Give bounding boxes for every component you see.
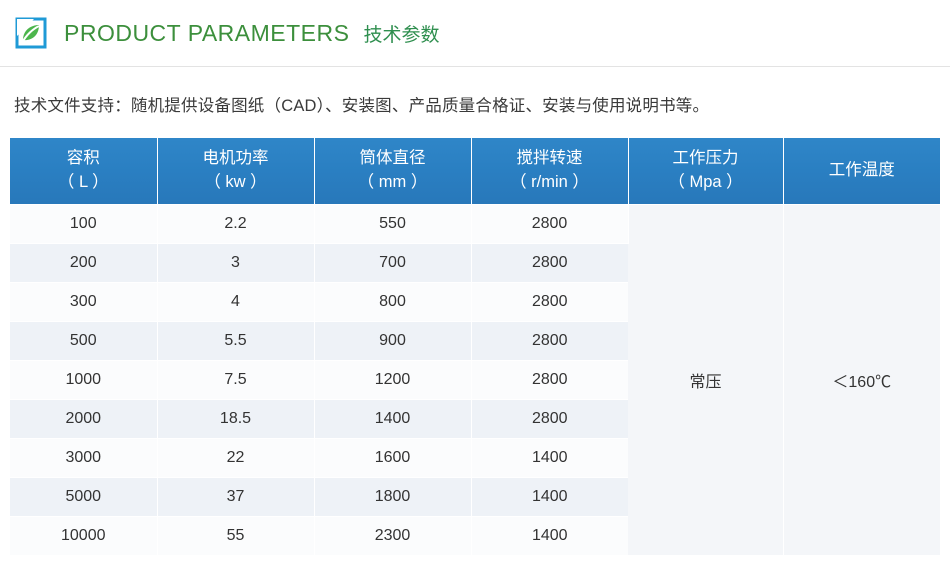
- column-header-speed: 搅拌转速 （ r/min ）: [471, 138, 628, 204]
- parameters-table: 容积 （ L ） 电机功率 （ kw ） 筒体直径 （ mm ） 搅拌转速 （ …: [10, 138, 940, 556]
- parameters-table-wrapper: 容积 （ L ） 电机功率 （ kw ） 筒体直径 （ mm ） 搅拌转速 （ …: [10, 138, 940, 556]
- page-title-cn: 技术参数: [363, 20, 439, 47]
- cell-speed: 2800: [471, 399, 628, 438]
- cell-power: 7.5: [157, 360, 314, 399]
- cell-diameter: 1600: [314, 438, 471, 477]
- table-row: 100 2.2 550 2800 常压 ＜160℃: [10, 204, 940, 243]
- page-title-en: PRODUCT PARAMETERS: [64, 20, 349, 47]
- cell-power: 4: [157, 282, 314, 321]
- cell-diameter: 550: [314, 204, 471, 243]
- cell-speed: 2800: [471, 282, 628, 321]
- cell-pressure-merged: 常压: [628, 204, 783, 555]
- column-header-power: 电机功率 （ kw ）: [157, 138, 314, 204]
- cell-volume: 3000: [10, 438, 157, 477]
- column-header-speed-line1: 搅拌转速: [474, 147, 626, 171]
- cell-volume: 10000: [10, 516, 157, 555]
- cell-power: 22: [157, 438, 314, 477]
- cell-volume: 200: [10, 243, 157, 282]
- column-header-diameter: 筒体直径 （ mm ）: [314, 138, 471, 204]
- cell-diameter: 1400: [314, 399, 471, 438]
- cell-volume: 300: [10, 282, 157, 321]
- cell-speed: 2800: [471, 204, 628, 243]
- column-header-temperature-line1: 工作温度: [786, 159, 939, 183]
- column-header-pressure: 工作压力 （ Mpa ）: [628, 138, 783, 204]
- column-header-diameter-line1: 筒体直径: [317, 147, 469, 171]
- cell-power: 3: [157, 243, 314, 282]
- cell-volume: 100: [10, 204, 157, 243]
- intro-text: 技术文件支持：随机提供设备图纸（CAD）、安装图、产品质量合格证、安装与使用说明…: [14, 92, 709, 116]
- product-parameters-page: PRODUCT PARAMETERS 技术参数 技术文件支持：随机提供设备图纸（…: [0, 0, 950, 565]
- column-header-volume: 容积 （ L ）: [10, 138, 157, 204]
- column-header-diameter-line2: （ mm ）: [317, 171, 469, 195]
- table-body: 100 2.2 550 2800 常压 ＜160℃ 200 3 700 2800…: [10, 204, 940, 555]
- cell-speed: 1400: [471, 438, 628, 477]
- table-header-row: 容积 （ L ） 电机功率 （ kw ） 筒体直径 （ mm ） 搅拌转速 （ …: [10, 138, 940, 204]
- column-header-speed-line2: （ r/min ）: [474, 171, 626, 195]
- column-header-power-line2: （ kw ）: [160, 171, 312, 195]
- cell-speed: 2800: [471, 360, 628, 399]
- cell-diameter: 2300: [314, 516, 471, 555]
- column-header-pressure-line1: 工作压力: [631, 147, 781, 171]
- column-header-volume-line2: （ L ）: [12, 171, 155, 195]
- cell-power: 2.2: [157, 204, 314, 243]
- cell-power: 5.5: [157, 321, 314, 360]
- cell-power: 55: [157, 516, 314, 555]
- page-header: PRODUCT PARAMETERS 技术参数: [0, 0, 950, 48]
- cell-temperature-merged: ＜160℃: [783, 204, 940, 555]
- cell-volume: 5000: [10, 477, 157, 516]
- cell-volume: 2000: [10, 399, 157, 438]
- cell-power: 18.5: [157, 399, 314, 438]
- cell-diameter: 900: [314, 321, 471, 360]
- cell-speed: 2800: [471, 321, 628, 360]
- cell-volume: 500: [10, 321, 157, 360]
- cell-diameter: 1200: [314, 360, 471, 399]
- column-header-temperature: 工作温度: [783, 138, 940, 204]
- column-header-power-line1: 电机功率: [160, 147, 312, 171]
- cell-speed: 1400: [471, 516, 628, 555]
- cell-diameter: 800: [314, 282, 471, 321]
- cell-speed: 1400: [471, 477, 628, 516]
- cell-speed: 2800: [471, 243, 628, 282]
- header-divider: [0, 66, 950, 67]
- column-header-pressure-line2: （ Mpa ）: [631, 171, 781, 195]
- cell-diameter: 700: [314, 243, 471, 282]
- cell-diameter: 1800: [314, 477, 471, 516]
- column-header-volume-line1: 容积: [12, 147, 155, 171]
- cell-power: 37: [157, 477, 314, 516]
- leaf-square-logo-icon: [14, 16, 48, 50]
- cell-volume: 1000: [10, 360, 157, 399]
